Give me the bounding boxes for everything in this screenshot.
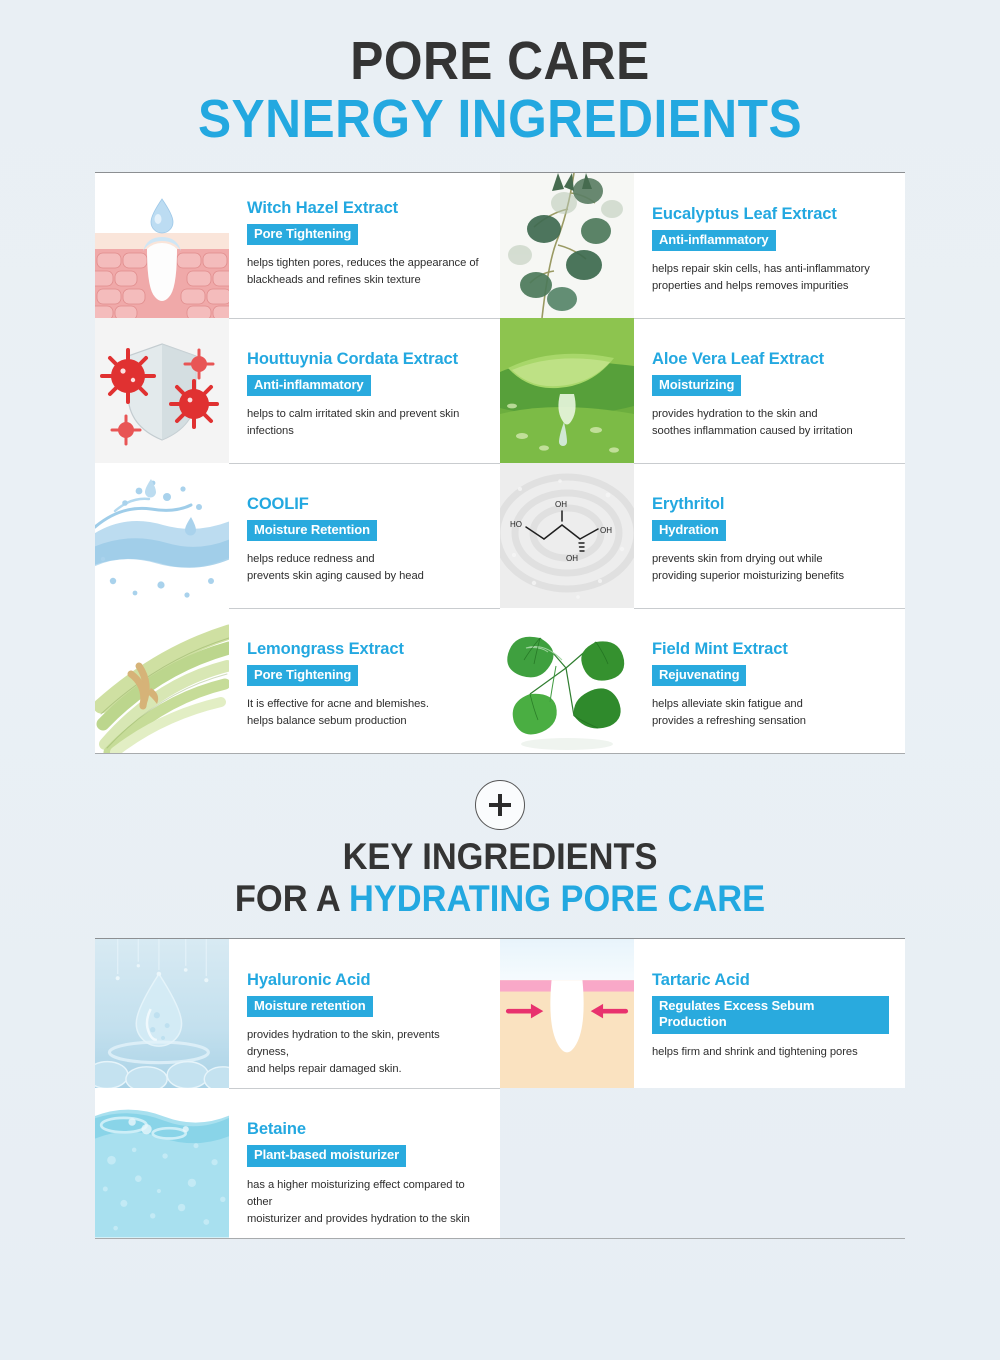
ingredient-name: Field Mint Extract [652,640,889,658]
ingredient-description: helps repair skin cells, has anti-inflam… [652,261,889,295]
ingredient-card[interactable]: Tartaric Acid Regulates Excess Sebum Pro… [500,939,905,1088]
ingredient-card-body: Hyaluronic Acid Moisture retention provi… [229,939,500,1088]
ingredient-name: Lemongrass Extract [247,640,484,658]
ingredient-name: Aloe Vera Leaf Extract [652,350,889,368]
page-title-line1: PORE CARE [40,34,960,89]
ingredient-description: helps tighten pores, reduces the appeara… [247,255,484,289]
ingredient-badge: Plant-based moisturizer [247,1145,406,1166]
section2-title-accent: HYDRATING PORE CARE [349,878,765,919]
ingredient-card[interactable]: Hyaluronic Acid Moisture retention provi… [95,939,500,1088]
ingredient-badge: Anti-inflammatory [652,230,776,251]
ingredient-name: Eucalyptus Leaf Extract [652,205,889,223]
ingredient-card-body: Houttuynia Cordata Extract Anti-inflamma… [229,318,500,463]
ingredient-description: has a higher moisturizing effect compare… [247,1177,484,1228]
ingredient-badge: Anti-inflammatory [247,375,371,396]
ingredient-description: prevents skin from drying out while prov… [652,551,889,585]
ingredient-card[interactable]: Houttuynia Cordata Extract Anti-inflamma… [95,318,500,463]
ingredient-description: helps alleviate skin fatigue and provide… [652,696,889,730]
aloe-vera-leaf-icon [500,318,634,463]
ingredient-description: helps reduce redness and prevents skin a… [247,551,484,585]
mint-leaves-icon [500,608,634,753]
ingredient-card-body: Lemongrass Extract Pore Tightening It is… [229,608,500,753]
ingredient-description: helps to calm irritated skin and prevent… [247,406,484,440]
molecule-label-ho: HO [510,520,522,529]
ingredient-description: provides hydration to the skin and sooth… [652,406,889,440]
hero-title-block: PORE CARE SYNERGY INGREDIENTS [0,0,1000,150]
molecule-label-oh-top: OH [555,500,567,509]
ingredient-badge: Pore Tightening [247,665,358,686]
ingredient-card[interactable]: Aloe Vera Leaf Extract Moisturizing prov… [500,318,905,463]
ingredient-description: helps firm and shrink and tightening por… [652,1044,889,1061]
ingredient-card-body: Eucalyptus Leaf Extract Anti-inflammator… [634,173,905,318]
section2-title-prefix: FOR A [235,878,349,919]
ingredient-card[interactable]: Betaine Plant-based moisturizer has a hi… [95,1088,500,1237]
ingredient-card[interactable]: Field Mint Extract Rejuvenating helps al… [500,608,905,753]
ingredient-name: COOLIF [247,495,484,513]
key-ingredients-grid: Hyaluronic Acid Moisture retention provi… [95,938,905,1239]
section2-title-line1: KEY INGREDIENTS [35,836,965,878]
ingredient-name: Hyaluronic Acid [247,971,484,989]
ingredient-card[interactable]: Lemongrass Extract Pore Tightening It is… [95,608,500,753]
ingredient-badge: Regulates Excess Sebum Production [652,996,889,1034]
eucalyptus-branch-icon [500,173,634,318]
empty-grid-cell [500,1088,905,1237]
ingredient-description: It is effective for acne and blemishes. … [247,696,484,730]
ingredient-name: Betaine [247,1120,484,1138]
ingredient-badge: Hydration [652,520,726,541]
synergy-ingredients-grid: Witch Hazel Extract Pore Tightening help… [95,172,905,754]
page-title-line2: SYNERGY INGREDIENTS [40,89,960,149]
section2-title-line2: FOR A HYDRATING PORE CARE [35,878,965,920]
ingredient-card-body: Aloe Vera Leaf Extract Moisturizing prov… [634,318,905,463]
section2-title-block: KEY INGREDIENTS FOR A HYDRATING PORE CAR… [0,836,1000,920]
ingredient-card[interactable]: COOLIF Moisture Retention helps reduce r… [95,463,500,608]
water-splash-icon [95,463,229,608]
shield-virus-icon [95,318,229,463]
ingredient-name: Houttuynia Cordata Extract [247,350,484,368]
ingredient-badge: Moisture Retention [247,520,377,541]
water-bubbles-icon [95,1088,229,1237]
ingredient-name: Tartaric Acid [652,971,889,989]
ingredient-card-body: COOLIF Moisture Retention helps reduce r… [229,463,500,608]
ingredient-name: Erythritol [652,495,889,513]
pore-shrinking-arrows-icon [500,939,634,1088]
ingredient-card[interactable]: Witch Hazel Extract Pore Tightening help… [95,173,500,318]
ingredient-card-body: Field Mint Extract Rejuvenating helps al… [634,608,905,753]
ingredient-card-body: Betaine Plant-based moisturizer has a hi… [229,1088,500,1237]
erythritol-molecule-icon: OH HO OH OH [500,463,634,608]
water-droplet-icon [95,939,229,1088]
ingredient-badge: Moisture retention [247,996,373,1017]
ingredient-card[interactable]: OH HO OH OH Erythritol Hydration prevent… [500,463,905,608]
ingredient-name: Witch Hazel Extract [247,199,484,217]
ingredient-badge: Pore Tightening [247,224,358,245]
ingredient-badge: Rejuvenating [652,665,746,686]
ingredient-card[interactable]: Eucalyptus Leaf Extract Anti-inflammator… [500,173,905,318]
ingredient-badge: Moisturizing [652,375,741,396]
molecule-label-oh-right: OH [600,526,612,535]
plus-divider [0,780,1000,830]
ingredient-description: provides hydration to the skin, prevents… [247,1027,484,1078]
ingredient-card-body: Tartaric Acid Regulates Excess Sebum Pro… [634,939,905,1088]
ingredient-card-body: Witch Hazel Extract Pore Tightening help… [229,173,500,318]
ingredient-card-body: Erythritol Hydration prevents skin from … [634,463,905,608]
lemongrass-bundle-icon [95,608,229,753]
plus-icon [475,780,525,830]
molecule-label-oh-bottom: OH [566,554,578,563]
skin-pore-water-droplet-icon [95,173,229,318]
